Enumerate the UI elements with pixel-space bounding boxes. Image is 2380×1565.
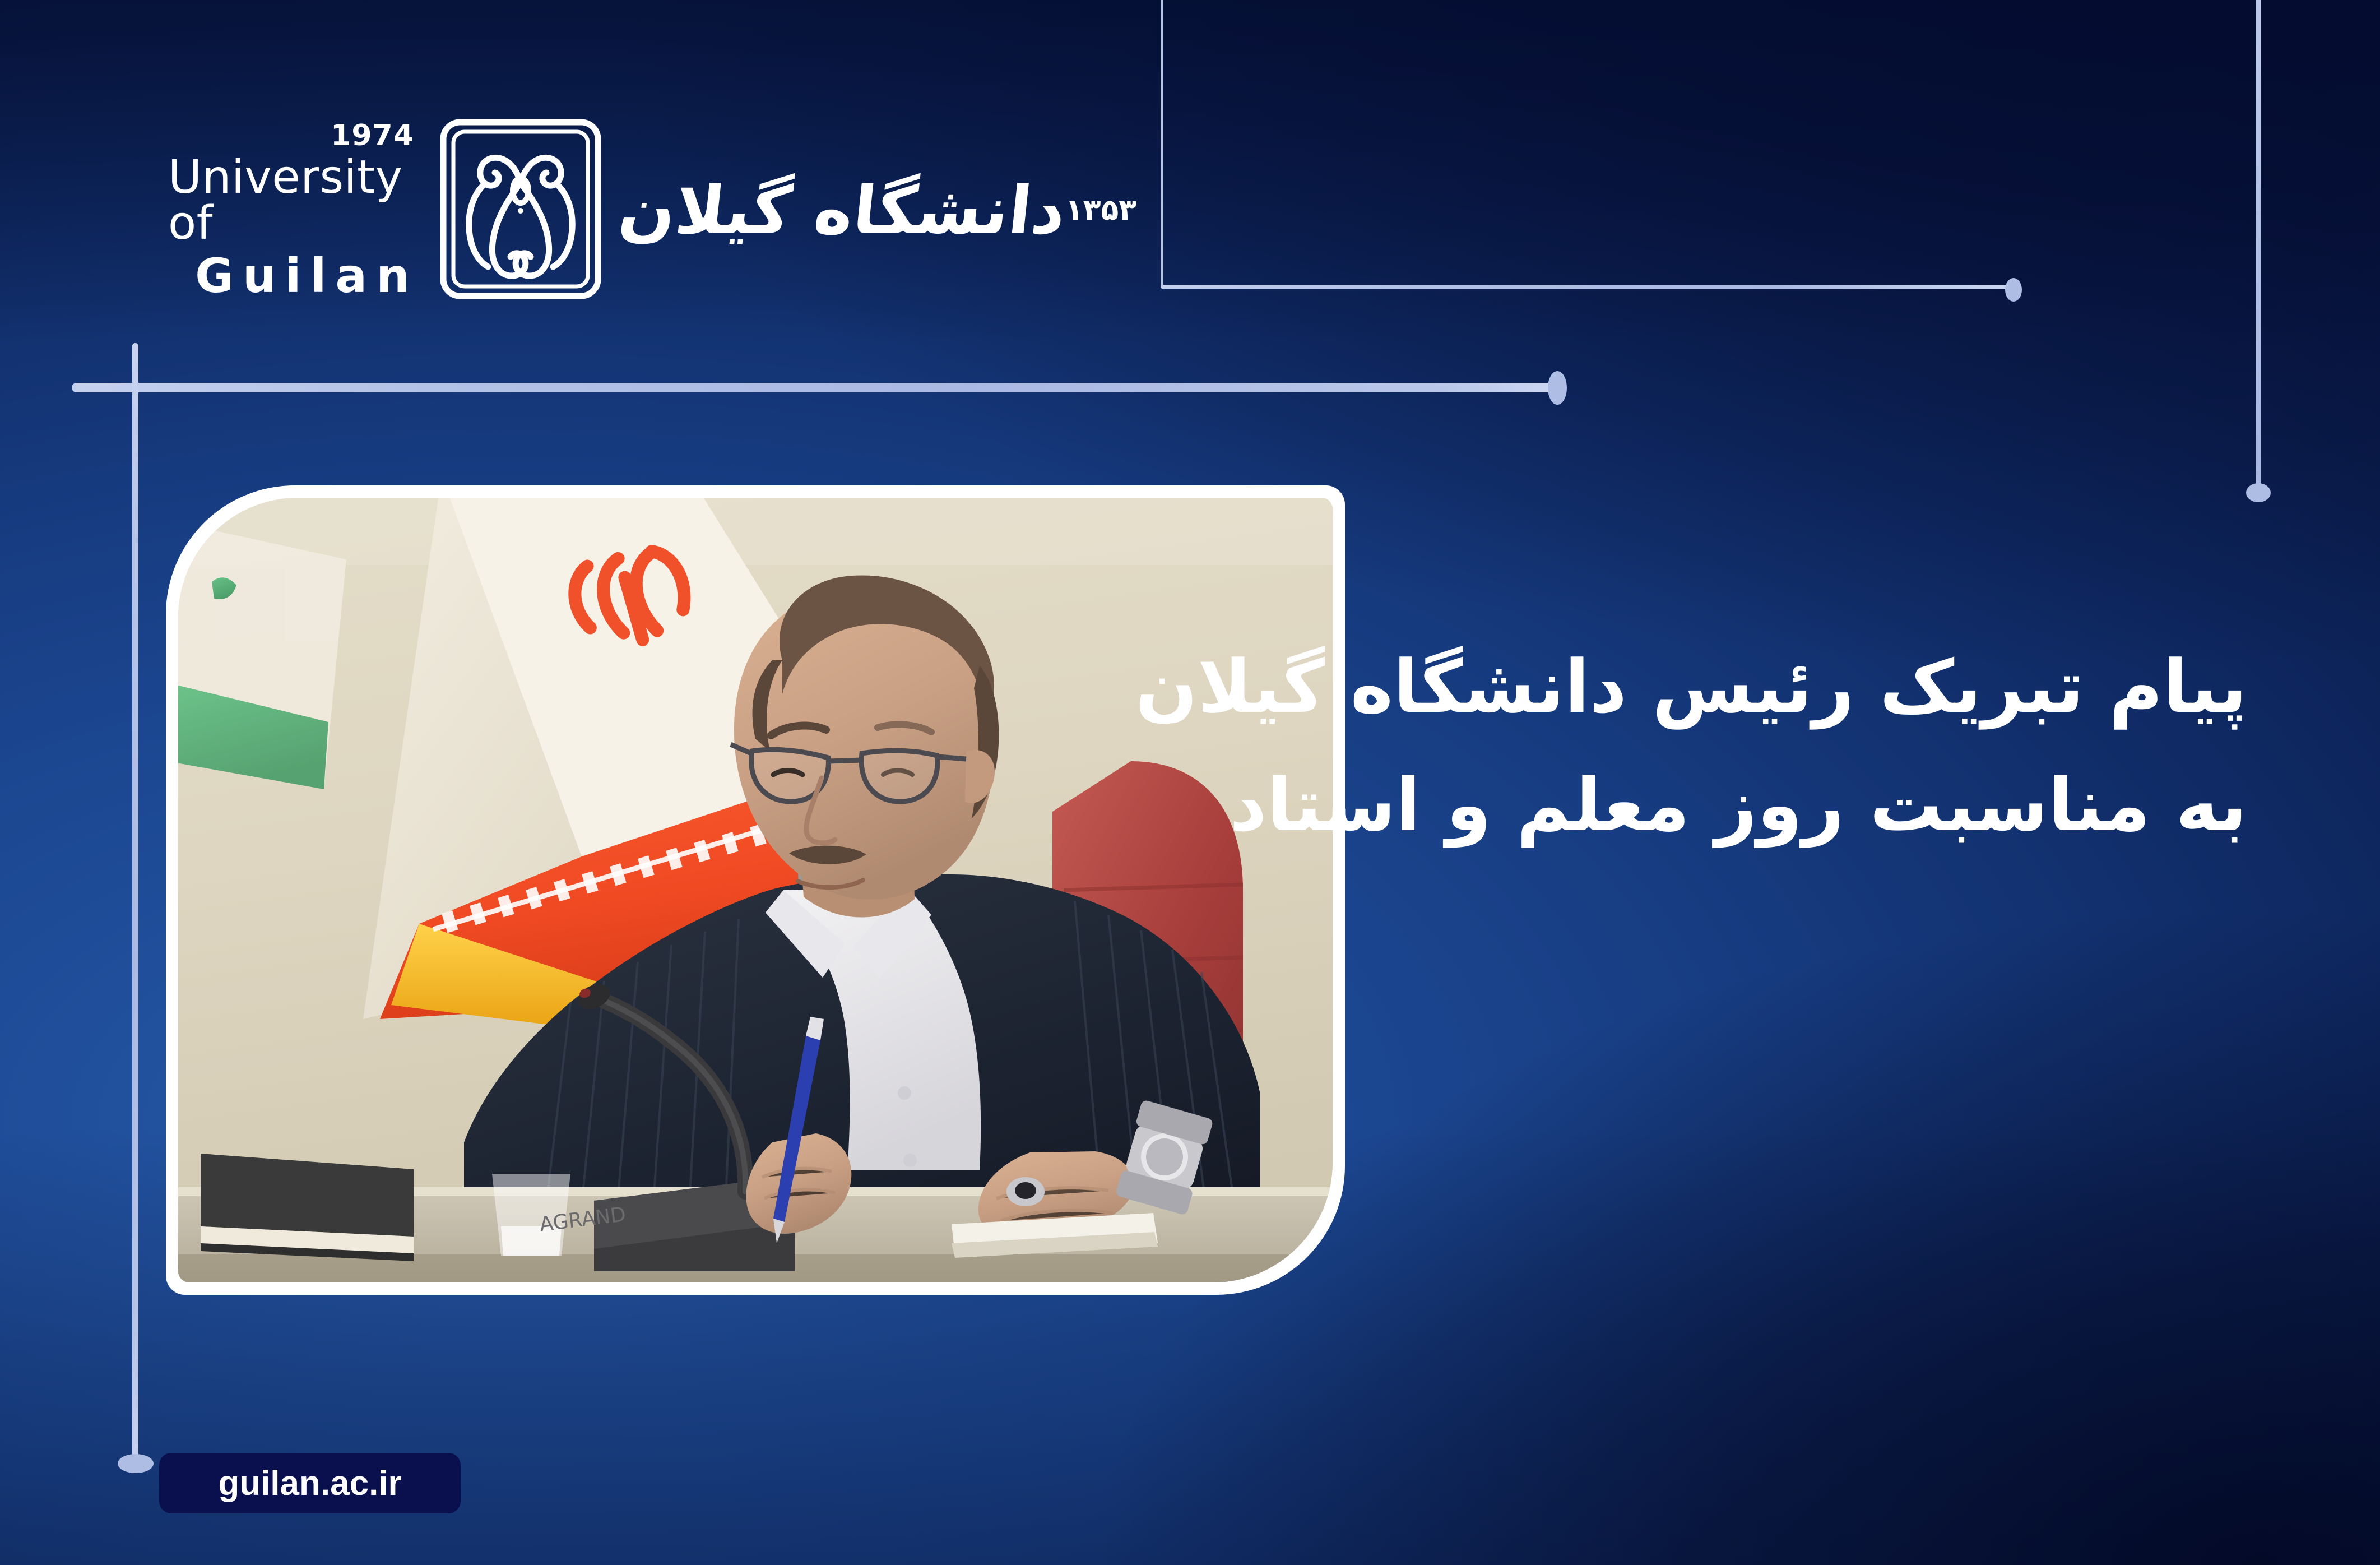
logo-english-block: 1974 University of Guilan [168, 121, 422, 299]
decoration-mid-rule-end-dot [1548, 371, 1567, 405]
decoration-left-vertical-rule [132, 343, 138, 1470]
photo-illustration: AGRAND [178, 498, 1333, 1282]
decoration-mid-horizontal-rule [72, 383, 1565, 392]
decoration-top-right-vertical-line [1161, 0, 1163, 288]
logo-established-year-fa: ۱۳۵۳ [1065, 193, 1136, 227]
logo-persian-block: دانشگاه گیلان ۱۳۵۳ [619, 177, 1151, 243]
decoration-right-drop-line [2256, 0, 2261, 492]
poster-canvas: 1974 University of Guilan [0, 0, 2380, 1565]
logo-established-year-en: 1974 [331, 121, 414, 150]
logo-name-fa: دانشگاه گیلان [616, 177, 1069, 243]
decoration-top-right-end-dot [2005, 278, 2022, 302]
university-logo: 1974 University of Guilan [168, 109, 1154, 311]
logo-name-line-1-en: University of [168, 155, 422, 247]
photo-frame: AGRAND [166, 485, 1345, 1295]
headline-line-1: پیام تبریک رئیس دانشگاه گیلان [1306, 628, 2247, 746]
headline-line-2: به مناسبت روز معلم و استاد [1306, 746, 2247, 864]
decoration-left-rule-end-dot [118, 1454, 154, 1473]
university-emblem-icon [437, 117, 605, 304]
headline-block: پیام تبریک رئیس دانشگاه گیلان به مناسبت … [1306, 628, 2247, 864]
website-badge[interactable]: guilan.ac.ir [159, 1453, 461, 1513]
president-photo: AGRAND [178, 498, 1333, 1282]
decoration-top-right-horizontal-line [1161, 285, 2013, 289]
decoration-right-drop-end-dot [2246, 483, 2271, 502]
logo-name-line-2-en: Guilan [195, 252, 419, 299]
website-url-label: guilan.ac.ir [218, 1464, 401, 1503]
